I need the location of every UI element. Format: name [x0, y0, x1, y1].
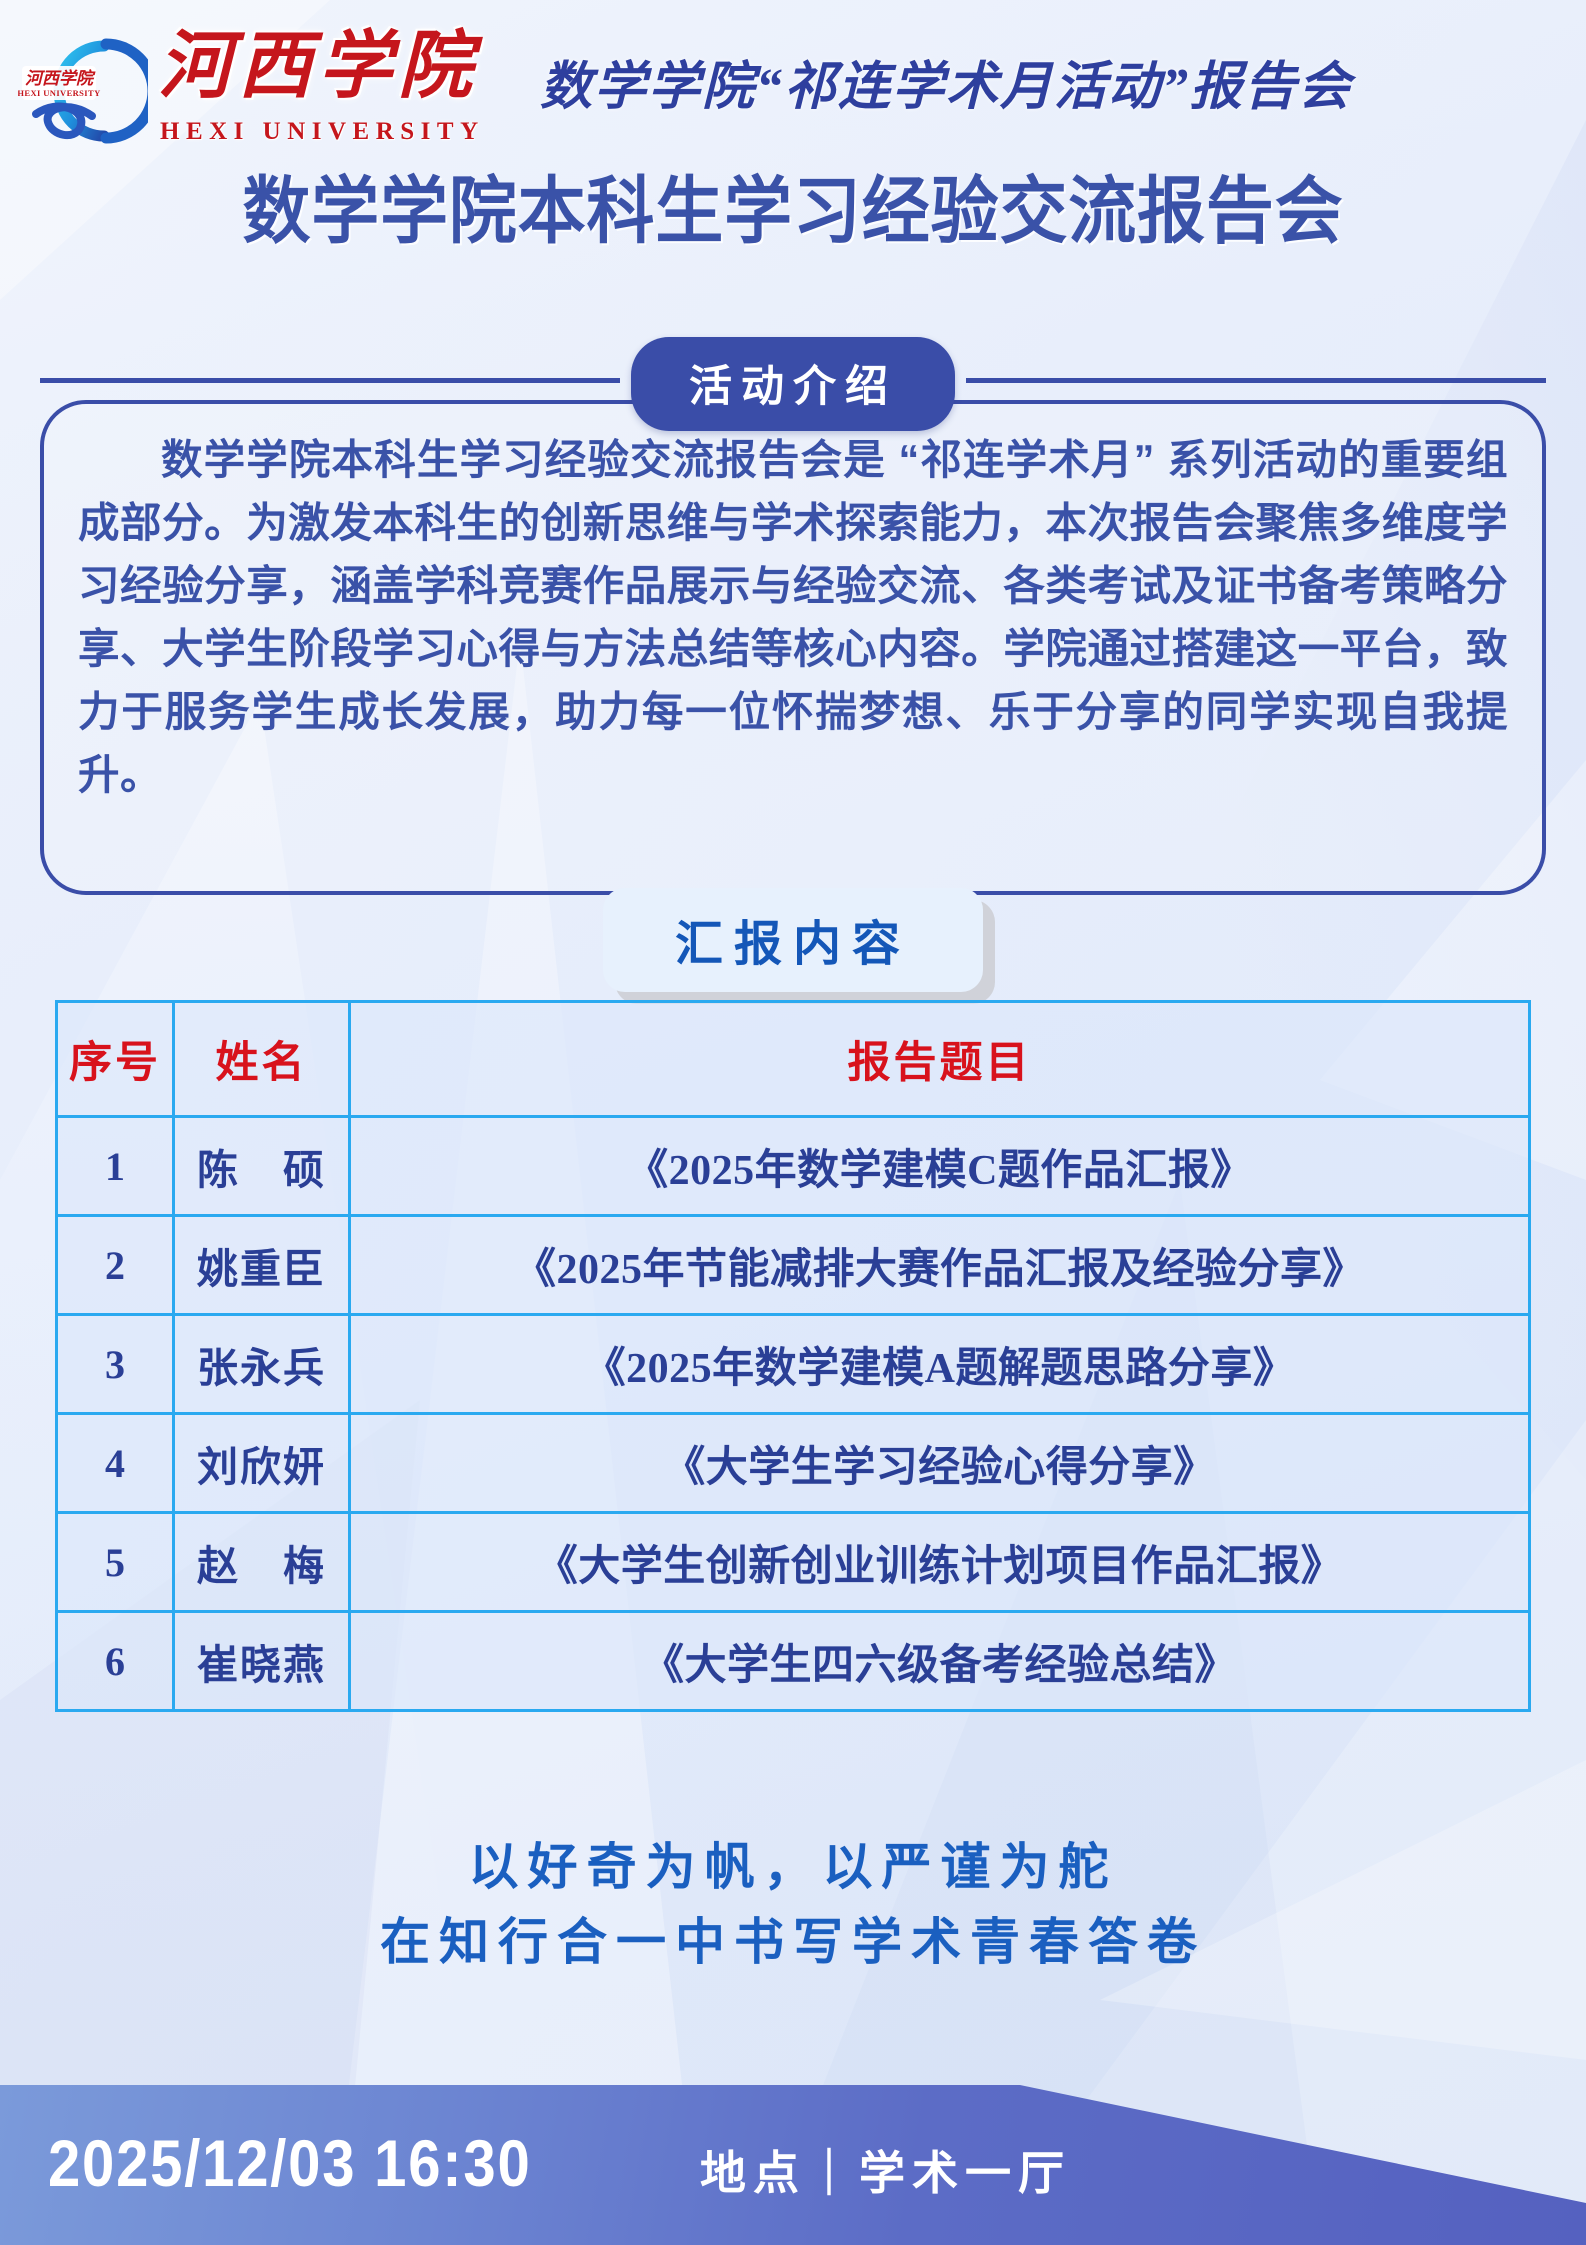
badge-rule-left	[40, 378, 620, 383]
cell-no: 1	[57, 1117, 174, 1216]
cell-name: 姚重臣	[174, 1216, 350, 1315]
badge-rule-right	[966, 378, 1546, 383]
poster: 河西学院 HEXI UNIVERSITY 河西学院 HEXI UNIVERSIT…	[0, 0, 1586, 2245]
event-datetime: 2025/12/03 16:30	[48, 2125, 532, 2201]
cell-title: 《2025年节能减排大赛作品汇报及经验分享》	[350, 1216, 1530, 1315]
cell-name: 张永兵	[174, 1315, 350, 1414]
cell-no: 4	[57, 1414, 174, 1513]
table-row: 4 刘欣妍 《大学生学习经验心得分享》	[57, 1414, 1530, 1513]
logo-english-name: HEXI UNIVERSITY	[160, 118, 485, 146]
table-header-row: 序号 姓名 报告题目	[57, 1002, 1530, 1117]
slogan: 以好奇为帆，以严谨为舵 在知行合一中书写学术青春答卷	[0, 1830, 1586, 1980]
cell-no: 2	[57, 1216, 174, 1315]
cell-no: 3	[57, 1315, 174, 1414]
table-row: 1 陈 硕 《2025年数学建模C题作品汇报》	[57, 1117, 1530, 1216]
cell-title: 《大学生四六级备考经验总结》	[350, 1612, 1530, 1711]
poster-footer: 2025/12/03 16:30 地点｜学术一厅	[0, 2085, 1586, 2245]
poster-header: 河西学院 HEXI UNIVERSITY 河西学院 HEXI UNIVERSIT…	[0, 0, 1586, 175]
cell-title: 《2025年数学建模C题作品汇报》	[350, 1117, 1530, 1216]
table-header-name: 姓名	[174, 1002, 350, 1117]
table-header-no: 序号	[57, 1002, 174, 1117]
table-row: 6 崔晓燕 《大学生四六级备考经验总结》	[57, 1612, 1530, 1711]
intro-paragraph: 数学学院本科生学习经验交流报告会是 “祁连学术月” 系列活动的重要组成部分。为激…	[78, 428, 1508, 806]
cell-no: 5	[57, 1513, 174, 1612]
intro-badge: 活动介绍	[631, 337, 955, 431]
section-pill-wrap: 汇报内容	[0, 888, 1586, 992]
cell-name: 刘欣妍	[174, 1414, 350, 1513]
university-emblem-icon: 河西学院 HEXI UNIVERSITY	[18, 36, 148, 146]
cell-no: 6	[57, 1612, 174, 1711]
slogan-line-1: 以好奇为帆，以严谨为舵	[0, 1830, 1586, 1905]
logo-chinese-name: 河西学院	[158, 30, 478, 104]
table-row: 2 姚重臣 《2025年节能减排大赛作品汇报及经验分享》	[57, 1216, 1530, 1315]
university-logo: 河西学院 HEXI UNIVERSITY 河西学院 HEXI UNIVERSIT…	[18, 28, 538, 148]
cell-title: 《大学生学习经验心得分享》	[350, 1414, 1530, 1513]
cell-title: 《大学生创新创业训练计划项目作品汇报》	[350, 1513, 1530, 1612]
svg-text:河西学院: 河西学院	[25, 69, 96, 88]
cell-title: 《2025年数学建模A题解题思路分享》	[350, 1315, 1530, 1414]
page-title: 数学学院本科生学习经验交流报告会	[56, 152, 1531, 258]
event-location: 地点｜学术一厅	[700, 2137, 1071, 2203]
slogan-line-2: 在知行合一中书写学术青春答卷	[0, 1905, 1586, 1980]
section-title-report-content: 汇报内容	[603, 888, 983, 992]
cell-name: 赵 梅	[174, 1513, 350, 1612]
header-subtitle: 数学学院“祁连学术月活动”报告会	[540, 44, 1352, 119]
table-row: 3 张永兵 《2025年数学建模A题解题思路分享》	[57, 1315, 1530, 1414]
cell-name: 陈 硕	[174, 1117, 350, 1216]
table-header-title: 报告题目	[350, 1002, 1530, 1117]
cell-name: 崔晓燕	[174, 1612, 350, 1711]
svg-text:HEXI UNIVERSITY: HEXI UNIVERSITY	[18, 88, 101, 98]
report-table: 序号 姓名 报告题目 1 陈 硕 《2025年数学建模C题作品汇报》 2 姚重臣…	[55, 1000, 1531, 1712]
table-row: 5 赵 梅 《大学生创新创业训练计划项目作品汇报》	[57, 1513, 1530, 1612]
